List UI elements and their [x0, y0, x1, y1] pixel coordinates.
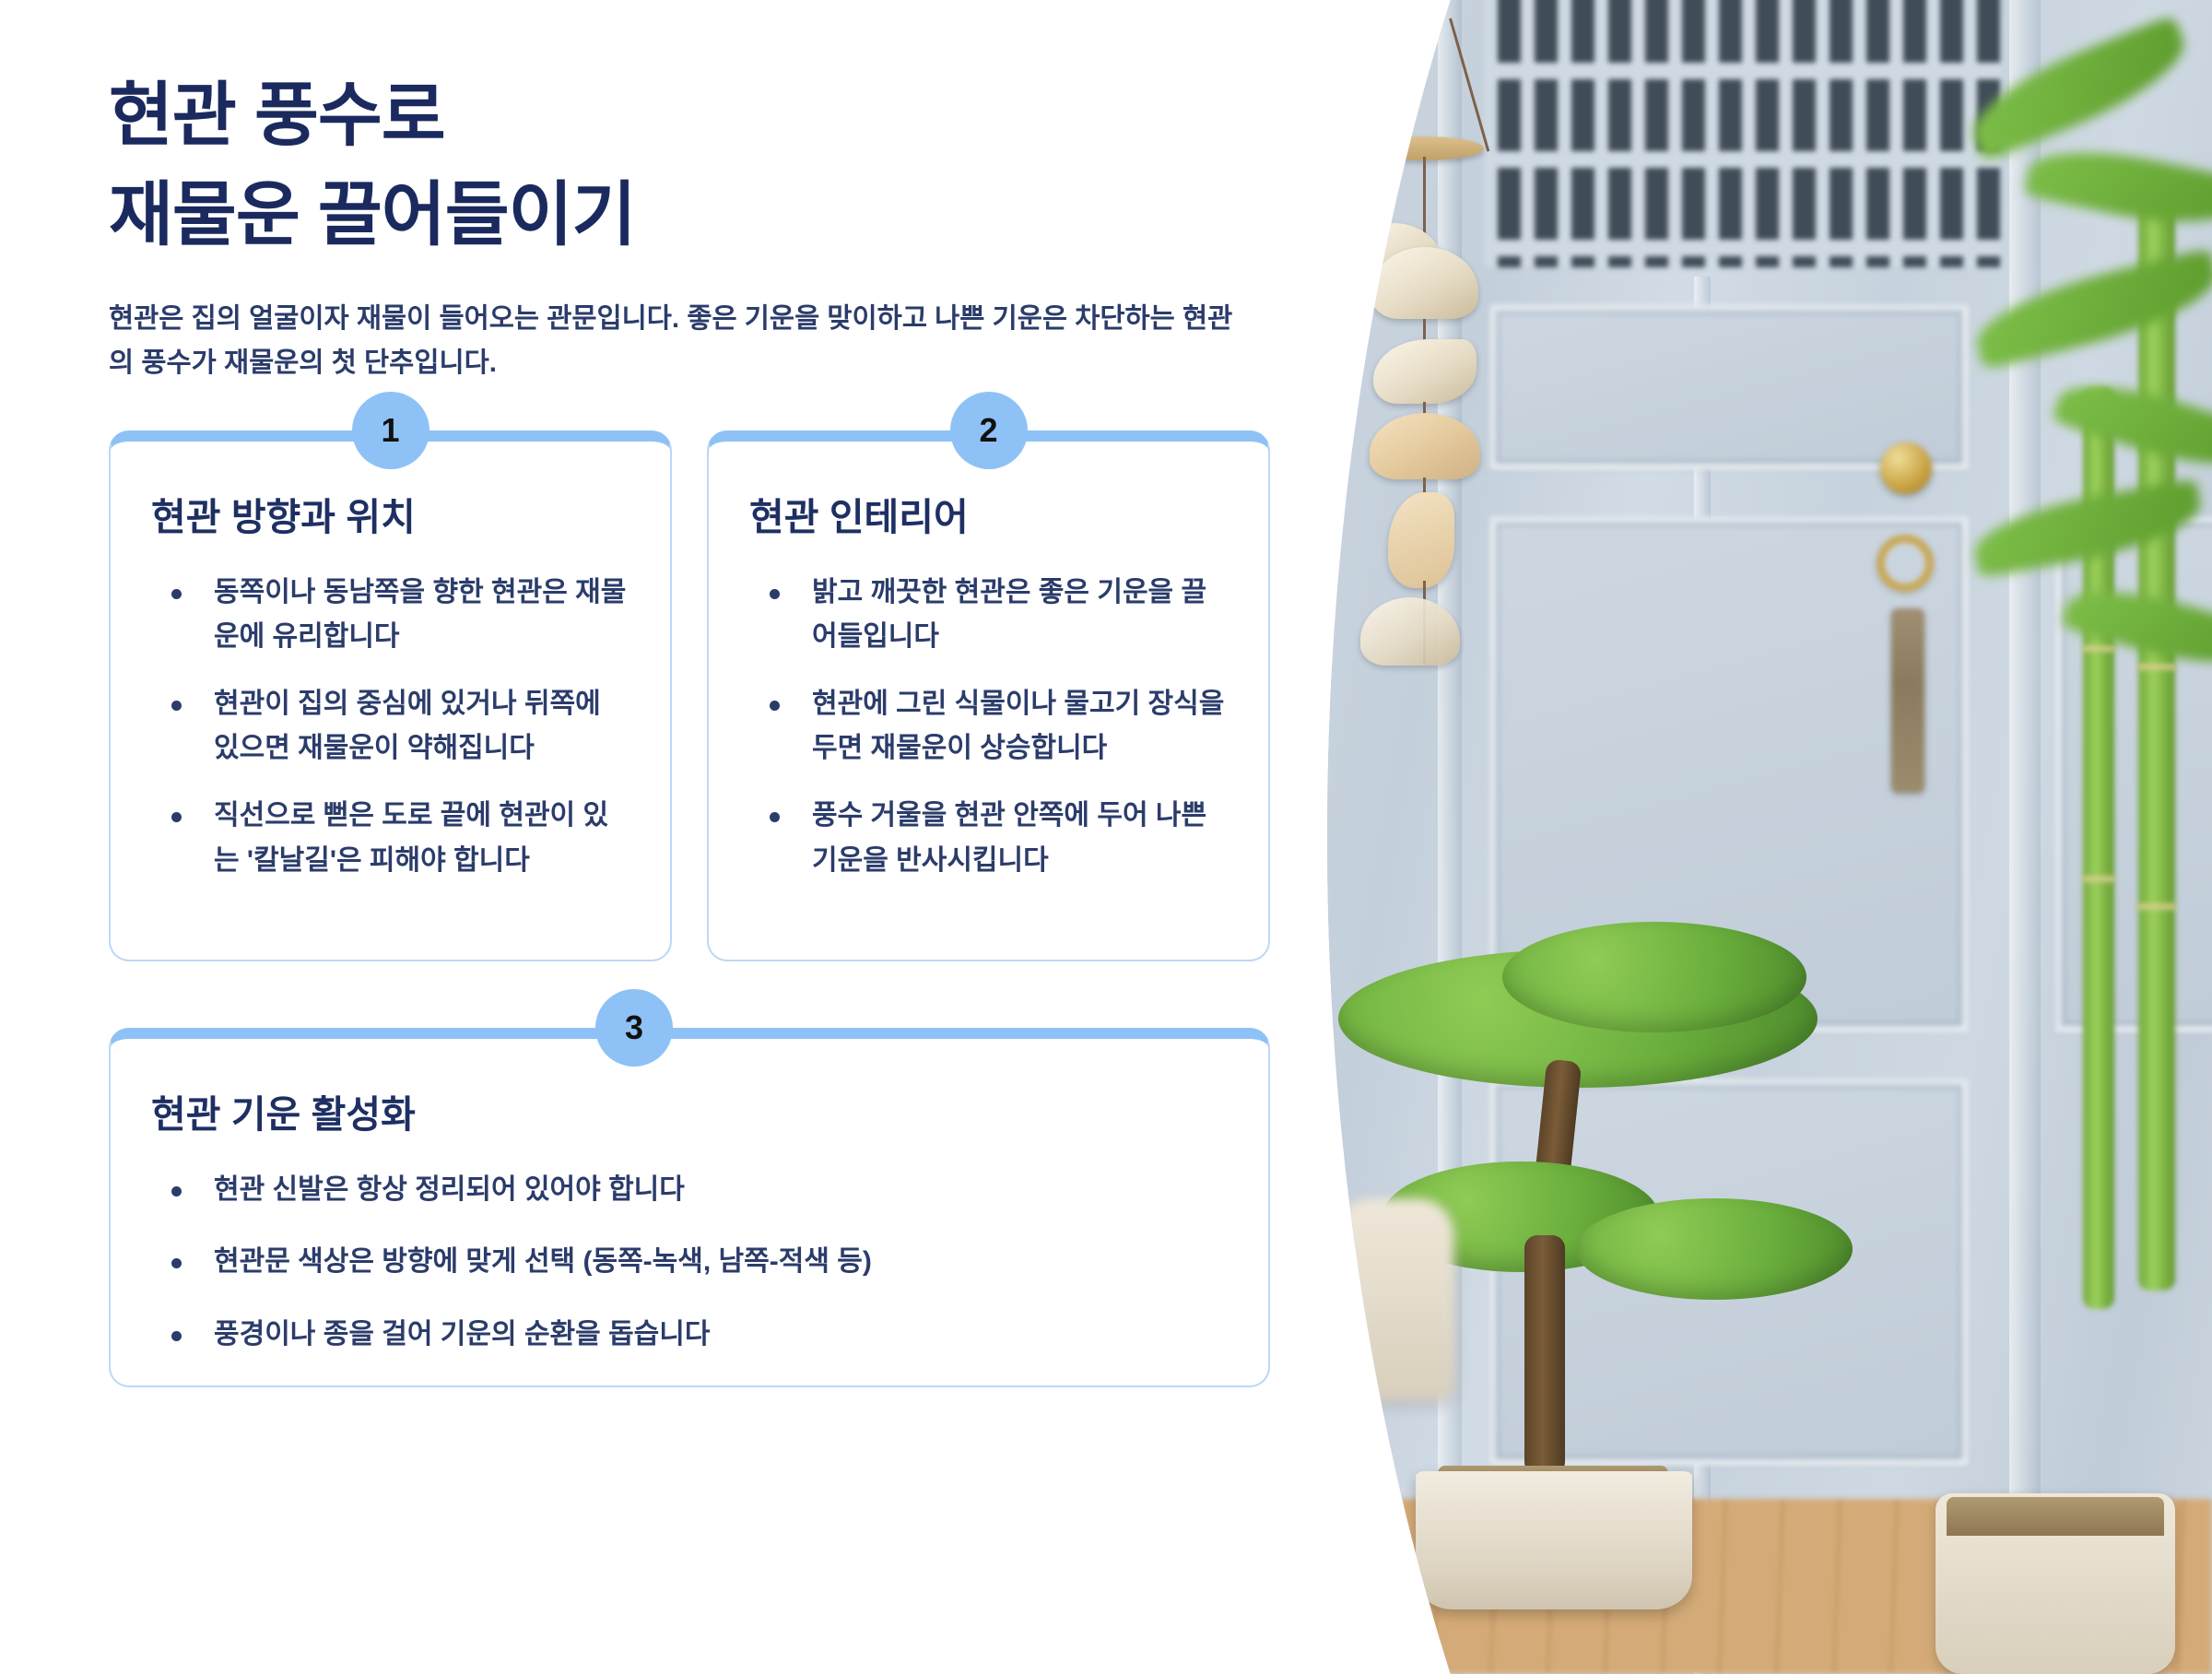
bonsai-trunk — [1524, 1235, 1565, 1475]
door-lockplate-icon — [1891, 608, 1924, 793]
entrance-photo — [1327, 0, 2212, 1674]
card-2-bullets: 밝고 깨끗한 현관은 좋은 기운을 끌어들입니다 현관에 그린 식물이나 물고기… — [749, 571, 1228, 884]
card-2-body: 현관 인테리어 밝고 깨끗한 현관은 좋은 기운을 끌어들입니다 현관에 그린 … — [707, 430, 1270, 961]
title-line-2: 재물운 끌어들이기 — [109, 166, 1346, 265]
card-3: 3 현관 기운 활성화 현관 신발은 항상 정리되어 있어야 합니다 현관문 색… — [109, 1028, 1270, 1387]
list-item: 밝고 깨끗한 현관은 좋은 기운을 끌어들입니다 — [749, 571, 1228, 660]
bonsai-canopy — [1502, 922, 1806, 1032]
card-2-badge: 2 — [950, 392, 1028, 469]
secondary-pot-soil — [1947, 1497, 2164, 1536]
content-column: 현관 풍수로 재물운 끌어들이기 현관은 집의 얼굴이자 재물이 들어오는 관문… — [0, 0, 1346, 1674]
card-1-bullets: 동쪽이나 동남쪽을 향한 현관은 재물운에 유리합니다 현관이 집의 중심에 있… — [151, 571, 629, 884]
card-3-body: 현관 기운 활성화 현관 신발은 항상 정리되어 있어야 합니다 현관문 색상은… — [109, 1028, 1270, 1387]
card-1-badge: 1 — [352, 392, 429, 469]
bamboo-node — [2136, 664, 2177, 670]
list-item: 현관에 그린 식물이나 물고기 장식을 두면 재물운이 상승합니다 — [749, 682, 1228, 772]
bamboo-node — [2136, 903, 2177, 910]
bamboo-node — [2081, 645, 2116, 652]
door-ring-handle-icon — [1877, 535, 1934, 592]
card-1: 1 현관 방향과 위치 동쪽이나 동남쪽을 향한 현관은 재물운에 유리합니다 … — [109, 430, 672, 961]
card-3-bullets: 현관 신발은 항상 정리되어 있어야 합니다 현관문 색상은 방향에 맞게 선택… — [151, 1168, 1228, 1358]
list-item: 풍수 거울을 현관 안쪽에 두어 나쁜 기운을 반사시킵니다 — [749, 794, 1228, 883]
bonsai-canopy — [1576, 1198, 1853, 1300]
photo-scene — [1327, 0, 2212, 1674]
infographic-page: 현관 풍수로 재물운 끌어들이기 현관은 집의 얼굴이자 재물이 들어오는 관문… — [0, 0, 2212, 1674]
card-1-title: 현관 방향과 위치 — [151, 493, 629, 542]
list-item: 동쪽이나 동남쪽을 향한 현관은 재물운에 유리합니다 — [151, 571, 629, 660]
list-item: 풍경이나 종을 걸어 기운의 순환을 돕습니다 — [151, 1313, 1228, 1358]
card-3-title: 현관 기운 활성화 — [151, 1090, 1228, 1139]
doorknob-icon — [1880, 442, 1932, 494]
page-title: 현관 풍수로 재물운 끌어들이기 — [109, 66, 1346, 265]
bamboo-stalk — [2138, 184, 2175, 1291]
card-2: 2 현관 인테리어 밝고 깨끗한 현관은 좋은 기운을 끌어들입니다 현관에 그… — [707, 430, 1270, 961]
intro-paragraph: 현관은 집의 얼굴이자 재물이 들어오는 관문입니다. 좋은 기운을 맞이하고 … — [109, 297, 1256, 385]
card-1-body: 현관 방향과 위치 동쪽이나 동남쪽을 향한 현관은 재물운에 유리합니다 현관… — [109, 430, 672, 961]
lattice-window-icon — [1484, 0, 2000, 267]
background-jar — [1335, 1198, 1454, 1401]
card-3-badge: 3 — [595, 989, 673, 1067]
list-item: 현관문 색상은 방향에 맞게 선택 (동쪽-녹색, 남쪽-적색 등) — [151, 1240, 1228, 1285]
list-item: 현관 신발은 항상 정리되어 있어야 합니다 — [151, 1168, 1228, 1213]
card-row-top: 1 현관 방향과 위치 동쪽이나 동남쪽을 향한 현관은 재물운에 유리합니다 … — [109, 430, 1270, 961]
door-stile — [2009, 0, 2041, 1674]
list-item: 직선으로 뻗은 도로 끝에 현관이 있는 '칼날길'은 피해야 합니다 — [151, 794, 629, 883]
bonsai-pot — [1416, 1471, 1692, 1609]
card-2-title: 현관 인테리어 — [749, 493, 1228, 542]
bamboo-node — [2081, 876, 2116, 882]
list-item: 현관이 집의 중심에 있거나 뒤쪽에 있으면 재물운이 약해집니다 — [151, 682, 629, 772]
title-line-1: 현관 풍수로 — [109, 66, 1346, 166]
